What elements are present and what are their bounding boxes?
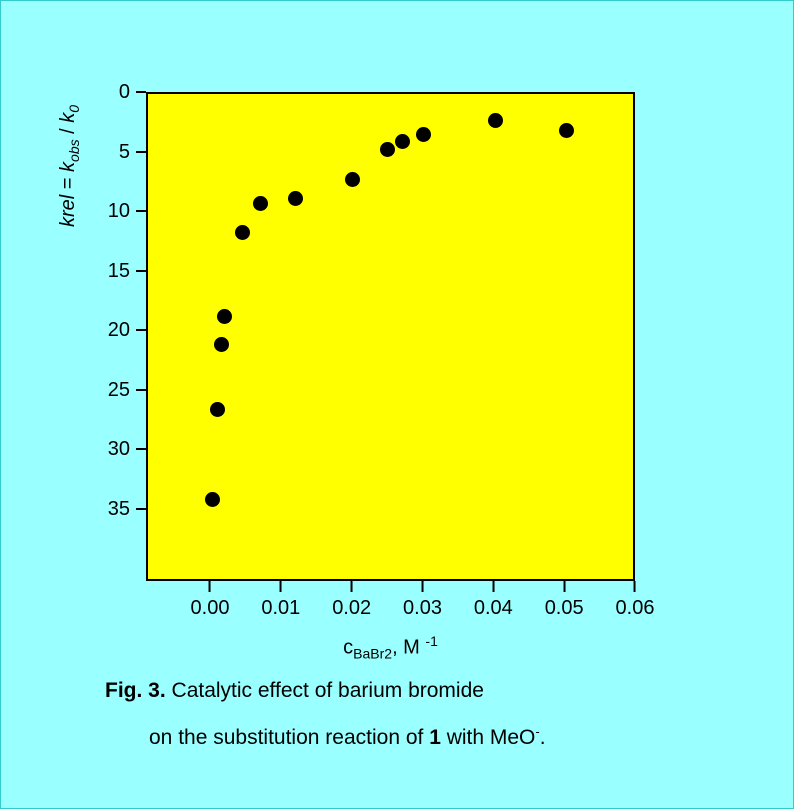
y-axis-title-k2: k [57, 113, 79, 123]
data-point [559, 123, 574, 138]
plot-area [146, 92, 635, 581]
data-point [488, 113, 503, 128]
x-tick-mark [351, 581, 353, 592]
data-point [205, 492, 220, 507]
data-point [210, 402, 225, 417]
data-point [345, 172, 360, 187]
x-axis-title-babr: BaBr [353, 646, 384, 662]
x-tick: 0.02 [332, 581, 371, 618]
data-point [288, 191, 303, 206]
y-tick-label: 5 [119, 142, 136, 162]
x-axis-title: cBaBr2, M -1 [146, 633, 635, 662]
x-tick-label: 0.05 [545, 598, 584, 618]
x-tick-label: 0.04 [474, 598, 513, 618]
y-tick-label: 35 [108, 499, 136, 519]
y-tick-label: 0 [119, 82, 136, 102]
data-point [416, 127, 431, 142]
y-tick-mark [136, 508, 146, 510]
x-tick-label: 0.01 [261, 598, 300, 618]
x-tick-mark [422, 581, 424, 592]
y-axis-title-zero: 0 [66, 105, 82, 113]
data-point [235, 225, 250, 240]
caption-line-2: on the substitution reaction of 1 with M… [149, 724, 546, 750]
x-tick-label: 0.03 [403, 598, 442, 618]
x-tick: 0.04 [474, 581, 513, 618]
y-tick-label: 30 [108, 439, 136, 459]
x-axis-title-exponent: -1 [425, 633, 437, 649]
y-tick-mark [136, 270, 146, 272]
caption-line-2-period: . [540, 726, 546, 749]
y-tick-mark [136, 210, 146, 212]
x-tick: 0.03 [403, 581, 442, 618]
y-axis-title-equals: = [57, 172, 79, 195]
x-tick-label: 0.00 [191, 598, 230, 618]
x-axis-title-two: 2 [384, 646, 392, 662]
y-axis-title-obs: obs [66, 139, 82, 162]
x-tick: 0.06 [616, 581, 655, 618]
caption-compound-number: 1 [429, 726, 441, 749]
data-point [380, 142, 395, 157]
caption-line-2-text-a: on the substitution reaction of [149, 726, 429, 749]
y-tick-mark [136, 151, 146, 153]
y-tick-mark [136, 91, 146, 93]
caption-figure-number: Fig. 3. [105, 679, 166, 702]
x-tick-label: 0.02 [332, 598, 371, 618]
y-tick-label: 10 [108, 201, 136, 221]
y-axis-title-slash: / [57, 123, 79, 140]
x-axis-title-c: c [343, 637, 353, 659]
data-point [395, 134, 410, 149]
x-tick: 0.01 [261, 581, 300, 618]
y-tick-mark [136, 448, 146, 450]
x-tick-mark [280, 581, 282, 592]
y-axis-title-krel: krel [57, 195, 79, 227]
data-point [253, 196, 268, 211]
y-tick-label: 15 [108, 261, 136, 281]
caption-line-2-text-b: with MeO [441, 726, 536, 749]
x-tick-label: 0.06 [616, 598, 655, 618]
x-axis-title-unit: , M [392, 637, 425, 659]
y-tick-label: 25 [108, 380, 136, 400]
data-point [214, 337, 229, 352]
y-axis-title: krel = kobs / k0 [53, 0, 83, 227]
y-axis-title-k: k [57, 162, 79, 172]
scatter-points-layer [148, 94, 633, 579]
data-point [217, 309, 232, 324]
x-tick-mark [492, 581, 494, 592]
caption-line-1-text: Catalytic effect of barium bromide [166, 679, 484, 702]
x-tick-mark [634, 581, 636, 592]
y-tick-label: 20 [108, 320, 136, 340]
y-tick-mark [136, 329, 146, 331]
x-tick-mark [563, 581, 565, 592]
y-tick-mark [136, 389, 146, 391]
x-axis: 0.000.010.020.030.040.050.06 [1, 581, 794, 641]
x-tick: 0.00 [191, 581, 230, 618]
figure-container: 35302520151050 0.000.010.020.030.040.050… [0, 0, 794, 809]
x-tick: 0.05 [545, 581, 584, 618]
caption-line-1: Fig. 3. Catalytic effect of barium bromi… [105, 679, 484, 703]
x-tick-mark [209, 581, 211, 592]
